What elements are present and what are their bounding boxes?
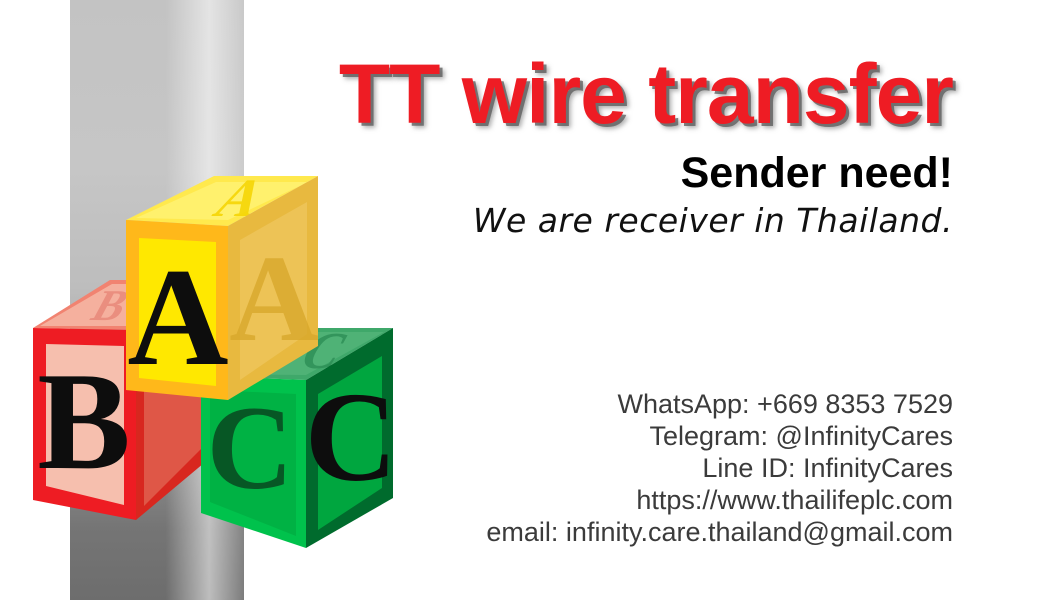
contact-details: WhatsApp: +669 8353 7529 Telegram: @Infi…	[0, 388, 953, 548]
business-card-graphic: .ltr{font-family:"Liberation Serif","Dej…	[0, 0, 1063, 600]
svg-text:A: A	[127, 240, 228, 395]
contact-line-telegram: Telegram: @InfinityCares	[0, 420, 953, 452]
subtitle: Sender need!	[0, 152, 953, 195]
contact-line-email: email: infinity.care.thailand@gmail.com	[0, 516, 953, 548]
contact-line-whatsapp: WhatsApp: +669 8353 7529	[0, 388, 953, 420]
contact-line-lineid: Line ID: InfinityCares	[0, 452, 953, 484]
contact-line-website: https://www.thailifeplc.com	[0, 484, 953, 516]
tagline: We are receiver in Thailand.	[0, 203, 953, 239]
svg-text:A: A	[229, 230, 319, 367]
page-title: TT wire transfer	[0, 52, 953, 136]
